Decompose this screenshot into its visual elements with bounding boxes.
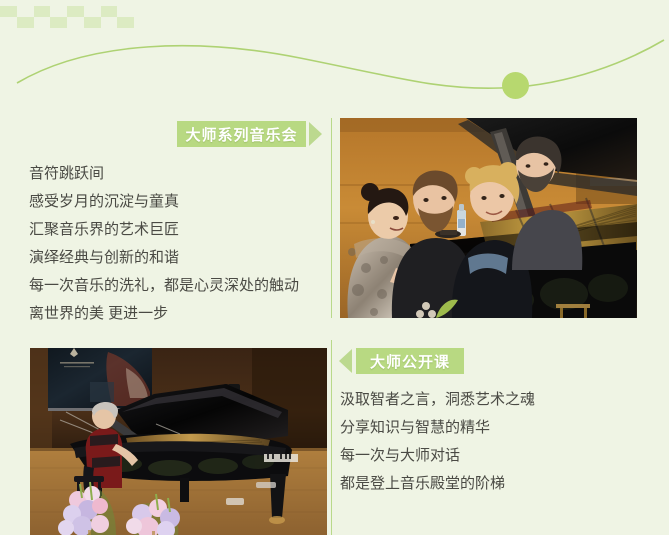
checker-cell: [67, 6, 84, 17]
copy-line: 汇聚音乐界的艺术巨匠: [29, 216, 299, 244]
copy-line: 演绎经典与创新的和谐: [29, 244, 299, 272]
checker-cell: [117, 6, 134, 17]
checker-cell: [50, 6, 67, 17]
triangle-right-icon: [309, 122, 322, 146]
copy-line: 都是登上音乐殿堂的阶梯: [340, 470, 535, 498]
copy-block-master-concert: 音符跳跃间 感受岁月的沉淀与童真 汇聚音乐界的艺术巨匠 演绎经典与创新的和谐 每…: [29, 160, 299, 328]
copy-line: 每一次与大师对话: [340, 442, 535, 470]
section-banner-master-class[interactable]: 大师公开课: [356, 348, 464, 374]
checker-cell: [101, 17, 118, 28]
copy-block-master-class: 汲取智者之言，洞悉艺术之魂 分享知识与智慧的精华 每一次与大师对话 都是登上音乐…: [340, 386, 535, 498]
checker-row-top: [0, 6, 134, 17]
copy-line: 分享知识与智慧的精华: [340, 414, 535, 442]
copy-line: 感受岁月的沉淀与童真: [29, 188, 299, 216]
copy-line: 音符跳跃间: [29, 160, 299, 188]
checker-cell: [17, 17, 34, 28]
checker-cell: [84, 17, 101, 28]
curved-divider-line: [0, 30, 669, 108]
triangle-left-icon: [339, 349, 352, 373]
poster-page: 大师系列音乐会 音符跳跃间 感受岁月的沉淀与童真 汇聚音乐界的艺术巨匠 演绎经典…: [0, 0, 669, 535]
checker-cell: [67, 17, 84, 28]
checker-cell: [84, 6, 101, 17]
banner-label: 大师公开课: [370, 351, 450, 372]
copy-line: 离世界的美 更进一步: [29, 300, 299, 328]
accent-dot: [502, 72, 529, 99]
checker-row-bottom: [0, 17, 134, 28]
checker-cell: [117, 17, 134, 28]
copy-line: 每一次音乐的洗礼，都是心灵深处的触动: [29, 272, 299, 300]
checker-cell: [34, 17, 51, 28]
checker-cell: [50, 17, 67, 28]
checkerboard-strip: [0, 6, 134, 28]
photo-masterclass-piano-group: [340, 118, 637, 318]
checker-cell: [34, 6, 51, 17]
checker-cell: [0, 17, 17, 28]
checker-cell: [17, 6, 34, 17]
banner-label: 大师系列音乐会: [185, 124, 297, 145]
vertical-divider-bottom: [331, 340, 332, 535]
copy-line: 汲取智者之言，洞悉艺术之魂: [340, 386, 535, 414]
vertical-divider-top: [331, 118, 332, 318]
checker-cell: [101, 6, 118, 17]
photo-recital-stage-piano: [30, 348, 327, 535]
checker-cell: [0, 6, 17, 17]
section-banner-master-concert[interactable]: 大师系列音乐会: [177, 121, 306, 147]
